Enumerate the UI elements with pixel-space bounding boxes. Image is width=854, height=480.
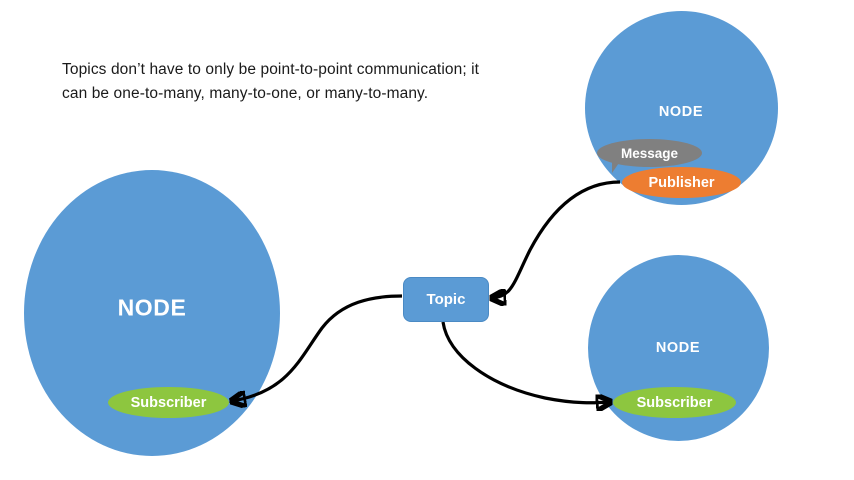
node-top-right-label: NODE	[659, 104, 703, 120]
topic-box: Topic	[403, 277, 489, 322]
subscriber-left: Subscriber	[108, 387, 229, 418]
arrow-publisher-to-topic	[492, 182, 620, 298]
caption-text: Topics don’t have to only be point-to-po…	[62, 58, 482, 106]
subscriber-bottom-right: Subscriber	[613, 387, 736, 418]
arrow-topic-to-subscriber-bottom-right	[443, 322, 610, 403]
publisher-top-right: Publisher	[622, 167, 741, 198]
node-bottom-right-label: NODE	[656, 340, 700, 356]
diagram-canvas: Topics don’t have to only be point-to-po…	[0, 0, 854, 480]
message-bubble-tail-icon	[612, 160, 624, 173]
node-left-label: NODE	[118, 295, 187, 322]
